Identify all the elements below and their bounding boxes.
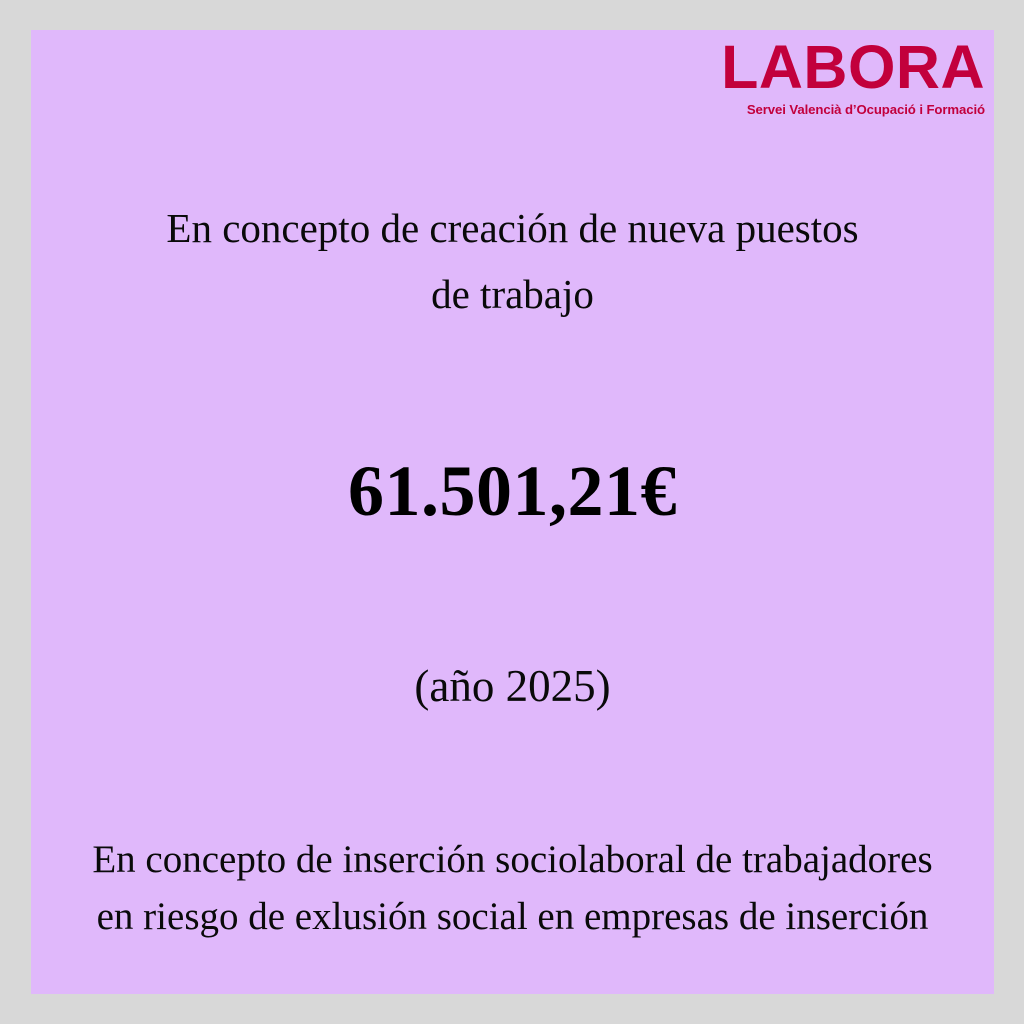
labora-logo: LABORA Servei Valencià d’Ocupació i Form… bbox=[695, 39, 985, 116]
insertion-note: En concepto de inserción sociolaboral de… bbox=[41, 832, 984, 945]
labora-wordmark: LABORA bbox=[695, 39, 985, 97]
concept-heading-line-1: En concepto de creación de nueva puestos bbox=[71, 196, 954, 262]
year-note: (año 2025) bbox=[31, 662, 994, 712]
insertion-note-line-2: en riesgo de exlusión social en empresas… bbox=[41, 889, 984, 946]
concept-heading: En concepto de creación de nueva puestos… bbox=[71, 196, 954, 327]
concept-heading-line-2: de trabajo bbox=[71, 262, 954, 328]
insertion-note-line-1: En concepto de inserción sociolaboral de… bbox=[41, 832, 984, 889]
page-frame: LABORA Servei Valencià d’Ocupació i Form… bbox=[0, 0, 1024, 1024]
content-panel: LABORA Servei Valencià d’Ocupació i Form… bbox=[31, 30, 994, 994]
amount-value: 61.501,21€ bbox=[31, 452, 994, 531]
labora-tagline: Servei Valencià d’Ocupació i Formació bbox=[695, 103, 985, 116]
